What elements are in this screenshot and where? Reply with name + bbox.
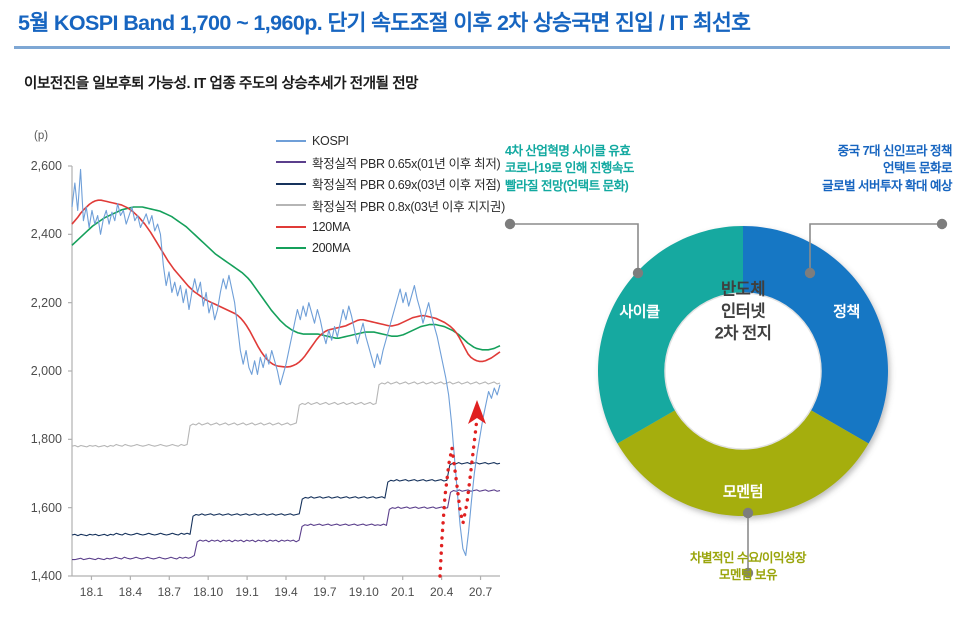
legend-color-swatch <box>276 204 306 206</box>
callout-line: 모멘텀 보유 <box>628 567 868 584</box>
legend-item[interactable]: 120MA <box>276 216 526 238</box>
legend-item[interactable]: 확정실적 PBR 0.65x(01년 이후 최저) <box>276 152 526 174</box>
y-axis-tick-label: 2,000 <box>10 364 62 378</box>
donut-center-label: 반도체인터넷2차 전지 <box>684 279 802 344</box>
donut-segment-label: 정책 <box>833 301 860 322</box>
x-axis-tick-label: 18.1 <box>80 585 103 599</box>
callout-line: 글로벌 서버투자 확대 예상 <box>822 178 952 195</box>
legend-label: 120MA <box>312 220 350 234</box>
x-axis-tick-label: 18.7 <box>158 585 181 599</box>
callout-line: 코로나19로 인해 진행속도 <box>505 160 634 177</box>
callout-policy: 중국 7대 신인프라 정책언택트 문화로글로벌 서버투자 확대 예상 <box>822 143 952 195</box>
callout-line: 빨라질 전망(언택트 문화) <box>505 178 634 195</box>
x-axis-tick-label: 18.10 <box>193 585 223 599</box>
y-axis-tick-label: 1,800 <box>10 432 62 446</box>
x-axis-tick-label: 20.1 <box>391 585 414 599</box>
chart-legend: KOSPI확정실적 PBR 0.65x(01년 이후 최저)확정실적 PBR 0… <box>276 130 526 259</box>
x-axis-tick-label: 18.4 <box>119 585 142 599</box>
legend-item[interactable]: 확정실적 PBR 0.69x(03년 이후 저점) <box>276 173 526 195</box>
y-axis-tick-label: 2,400 <box>10 227 62 241</box>
y-axis-tick-label: 2,600 <box>10 159 62 173</box>
connector-dot <box>937 219 947 229</box>
y-axis-tick-label: 1,400 <box>10 569 62 583</box>
x-axis-tick-label: 19.4 <box>274 585 297 599</box>
x-axis-tick-label: 19.1 <box>235 585 258 599</box>
callout-momentum: 차별적인 수요/이익성장모멘텀 보유 <box>628 550 868 585</box>
legend-label: 확정실적 PBR 0.65x(01년 이후 최저) <box>312 153 500 172</box>
legend-color-swatch <box>276 161 306 163</box>
legend-item[interactable]: 확정실적 PBR 0.8x(03년 이후 지지권) <box>276 195 526 217</box>
donut-segment-label: 사이클 <box>619 301 659 322</box>
x-axis-tick-label: 20.7 <box>469 585 492 599</box>
legend-color-swatch <box>276 247 306 249</box>
y-axis-tick-label: 2,200 <box>10 296 62 310</box>
donut-center-line: 인터넷 <box>684 301 802 323</box>
page-title: 5월 KOSPI Band 1,700 ~ 1,960p. 단기 속도조절 이후… <box>18 6 948 37</box>
legend-label: 200MA <box>312 241 350 255</box>
x-axis-tick-label: 20.4 <box>430 585 453 599</box>
donut-segment-label: 모멘텀 <box>723 480 763 501</box>
connector-dot <box>633 268 643 278</box>
x-axis-tick-label: 19.10 <box>349 585 379 599</box>
x-axis-tick-label: 19.7 <box>313 585 336 599</box>
connector-dot <box>505 219 515 229</box>
callout-connector <box>505 219 643 278</box>
connector-dot <box>743 508 753 518</box>
legend-item[interactable]: 200MA <box>276 238 526 260</box>
legend-label: KOSPI <box>312 134 349 148</box>
strategy-donut-diagram: 반도체인터넷2차 전지 정책모멘텀사이클 4차 산업혁명 사이클 유효코로나19… <box>490 118 964 618</box>
callout-line: 4차 산업혁명 사이클 유효 <box>505 143 634 160</box>
title-divider <box>14 46 950 49</box>
y-axis-tick-label: 1,600 <box>10 501 62 515</box>
kospi-band-chart: (p) 1,4001,6001,8002,0002,2002,4002,600 … <box>0 118 530 618</box>
legend-color-swatch <box>276 226 306 228</box>
legend-color-swatch <box>276 183 306 185</box>
legend-item[interactable]: KOSPI <box>276 130 526 152</box>
callout-line: 언택트 문화로 <box>822 160 952 177</box>
callout-line: 중국 7대 신인프라 정책 <box>822 143 952 160</box>
legend-label: 확정실적 PBR 0.69x(03년 이후 저점) <box>312 174 500 193</box>
legend-color-swatch <box>276 140 306 142</box>
legend-label: 확정실적 PBR 0.8x(03년 이후 지지권) <box>312 196 505 215</box>
donut-center-line: 2차 전지 <box>684 323 802 345</box>
connector-dot <box>805 268 815 278</box>
callout-cycle: 4차 산업혁명 사이클 유효코로나19로 인해 진행속도빨라질 전망(언택트 문… <box>505 143 634 195</box>
callout-line: 차별적인 수요/이익성장 <box>628 550 868 567</box>
page-subtitle: 이보전진을 일보후퇴 가능성. IT 업종 주도의 상승추세가 전개될 전망 <box>24 72 418 93</box>
donut-center-line: 반도체 <box>684 279 802 301</box>
